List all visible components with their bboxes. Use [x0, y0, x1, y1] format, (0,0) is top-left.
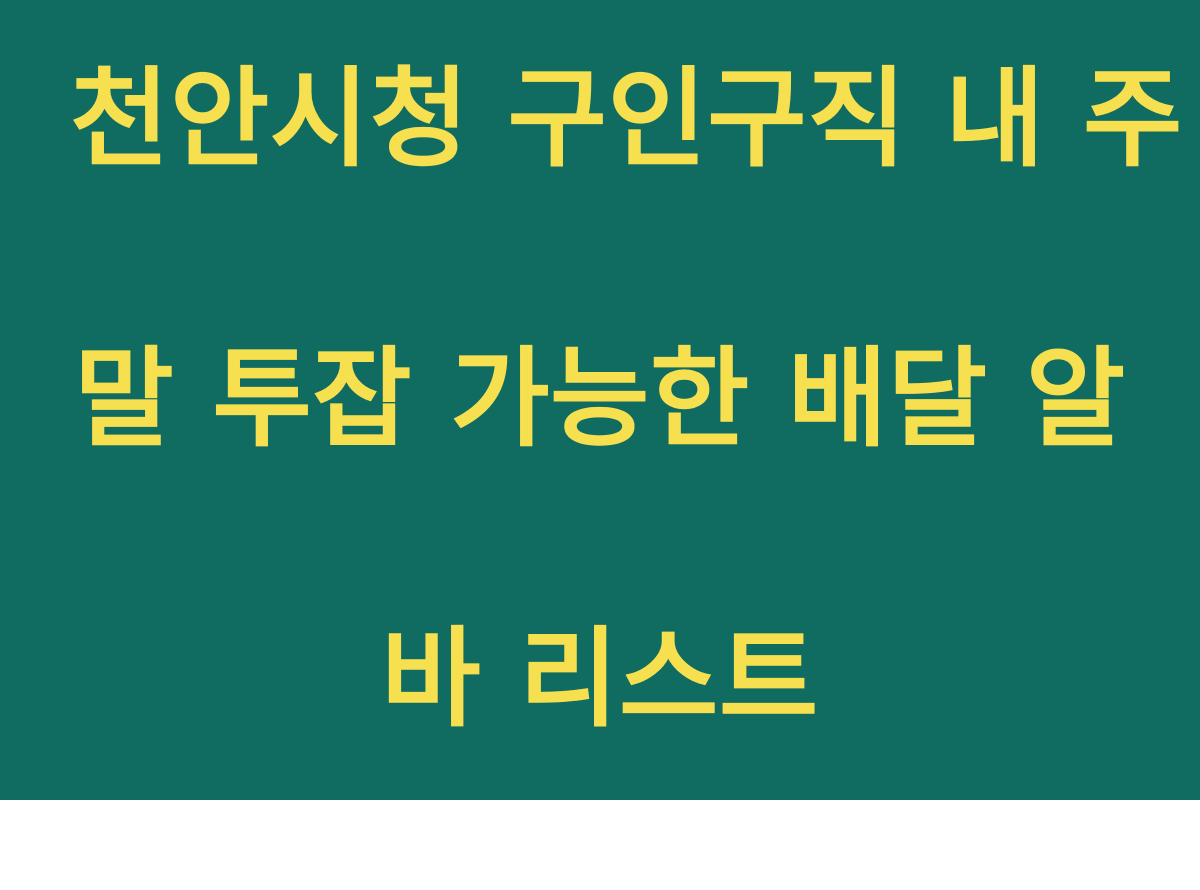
headline-line-2: 말 투잡 가능한 배달 알	[70, 330, 1130, 470]
headline-line-1: 천안시청 구인구직 내 주	[70, 50, 1130, 190]
page-title: 천안시청 구인구직 내 주 말 투잡 가능한 배달 알 바 리스트	[70, 0, 1130, 890]
headline-line-3: 바 리스트	[70, 610, 1130, 750]
banner-canvas: 천안시청 구인구직 내 주 말 투잡 가능한 배달 알 바 리스트	[0, 0, 1200, 800]
